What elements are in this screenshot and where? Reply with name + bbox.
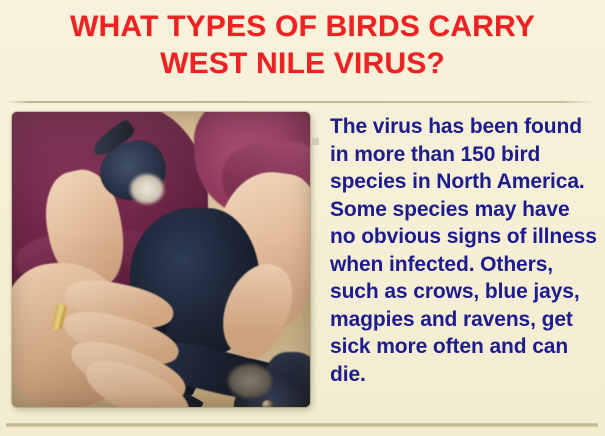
divider-bottom — [6, 423, 598, 427]
title-line-2: WEST NILE VIRUS? — [8, 45, 597, 82]
bird-nape-patch — [228, 364, 272, 398]
page-title: WHAT TYPES OF BIRDS CARRY WEST NILE VIRU… — [8, 8, 597, 82]
bird-eye — [262, 400, 273, 407]
body-text: The virus has been found in more than 15… — [330, 113, 598, 388]
title-line-1: WHAT TYPES OF BIRDS CARRY — [8, 8, 597, 45]
bird-photo-image — [12, 112, 310, 407]
bird-throat-patch — [130, 174, 164, 204]
slide-canvas: WHAT TYPES OF BIRDS CARRY WEST NILE VIRU… — [0, 0, 605, 436]
bullet-marker-icon — [312, 138, 319, 145]
divider-top — [6, 101, 596, 103]
bird-photo — [12, 112, 310, 407]
